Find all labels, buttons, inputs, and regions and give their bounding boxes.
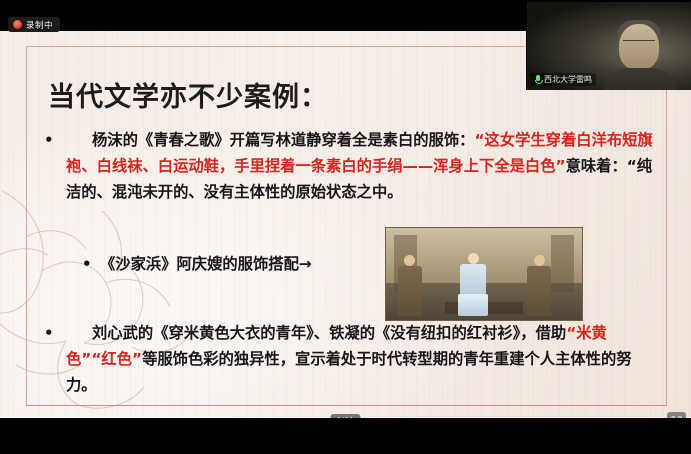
participant-name-badge: 西北大学雷鸣 bbox=[531, 73, 596, 86]
slide-frame-left bbox=[26, 46, 27, 406]
bullet-1-text: 杨沫的《青春之歌》开篇写林道静穿着全是素白的服饰：“这女学生穿着白洋布短旗袍、白… bbox=[66, 127, 654, 205]
photo-figure-woman bbox=[460, 253, 486, 316]
bullet-marker-2: • bbox=[44, 320, 66, 346]
figure-glasses bbox=[623, 40, 655, 49]
bullet-2-text: 刘心武的《穿米黄色大衣的青年》、铁凝的《没有纽扣的红衬衫》，借助“米黄色”“红色… bbox=[66, 320, 656, 398]
figure-shoulders bbox=[603, 68, 677, 90]
bullet-1-lead: 杨沫的《青春之歌》开篇写林道静穿着全是素白的服饰： bbox=[92, 131, 474, 149]
photo-figure-soldier-left bbox=[398, 255, 422, 316]
slide-bullet-1: • 杨沫的《青春之歌》开篇写林道静穿着全是素白的服饰：“这女学生穿着白洋布短旗袍… bbox=[44, 127, 654, 205]
sub-bullet-text: 《沙家浜》阿庆嫂的服饰搭配→ bbox=[100, 251, 312, 277]
slide-bullet-2: • 刘心武的《穿米黄色大衣的青年》、铁凝的《没有纽扣的红衬衫》，借助“米黄色”“… bbox=[44, 320, 656, 398]
participant-video-tile[interactable]: 西北大学雷鸣 bbox=[526, 2, 691, 90]
bullet-2-red-2: “红色” bbox=[91, 350, 142, 368]
participant-name: 西北大学雷鸣 bbox=[544, 74, 592, 85]
bullet-marker-1: • bbox=[44, 127, 66, 153]
participant-webcam-figure bbox=[607, 20, 673, 90]
microphone-icon bbox=[535, 75, 541, 84]
recording-label: 录制中 bbox=[26, 19, 53, 31]
photo-figure-soldier-right bbox=[527, 255, 551, 316]
bullet-marker-sub: • bbox=[82, 251, 100, 277]
slide-frame-bottom bbox=[26, 405, 666, 406]
meeting-screen-share-window: 当代文学亦不少案例： • 杨沫的《青春之歌》开篇写林道静穿着全是素白的服饰：“这… bbox=[0, 0, 691, 454]
recording-indicator: 录制中 bbox=[8, 17, 60, 32]
slide-sub-bullet: • 《沙家浜》阿庆嫂的服饰搭配→ bbox=[82, 251, 412, 277]
photo-panel-right bbox=[551, 235, 575, 292]
opera-stage-photo bbox=[385, 227, 583, 321]
bullet-2-part2: 等服饰色彩的独异性，宣示着处于时代转型期的青年重建个人主体性的努力。 bbox=[66, 350, 632, 394]
bottom-letterbox bbox=[0, 418, 691, 454]
slide-frame-right bbox=[666, 46, 667, 406]
bullet-2-part1: 刘心武的《穿米黄色大衣的青年》、铁凝的《没有纽扣的红衬衫》，借助 bbox=[92, 324, 566, 342]
slide-title: 当代文学亦不少案例： bbox=[48, 75, 328, 114]
record-dot-icon bbox=[13, 20, 22, 29]
